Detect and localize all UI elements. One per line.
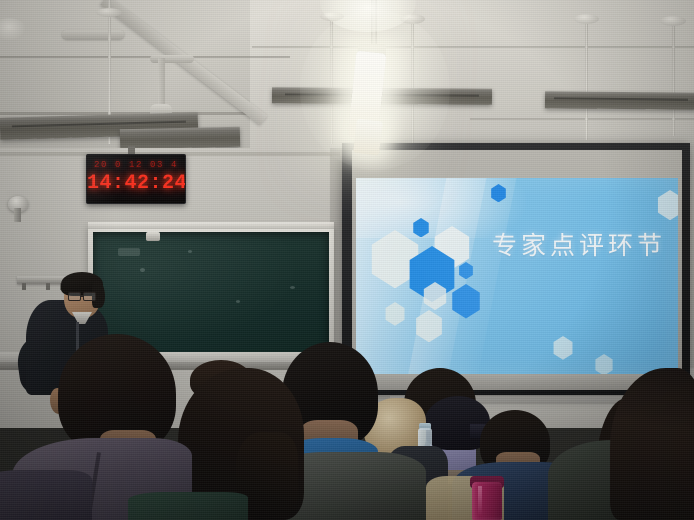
chalk-smudge [290, 286, 295, 289]
fluorescent-lamp-tube-lower [353, 119, 383, 156]
chalk-smudge [236, 300, 240, 303]
ceiling-seam [470, 118, 694, 120]
hex-white-bottom-r-icon [594, 354, 614, 376]
projected-slide: 专家点评环节 [356, 178, 678, 376]
batten-groove [12, 121, 186, 128]
audience-shoulder [0, 470, 92, 520]
lamp-ceiling-mount [96, 8, 122, 17]
glasses-bridge [80, 295, 84, 297]
lamp-drop-rod [585, 22, 588, 140]
chalk-smudge [188, 250, 192, 253]
lamp-drop-rod [330, 14, 333, 144]
ceiling-seam [0, 56, 290, 58]
clock-glass-sheen [87, 155, 185, 203]
thermos-highlight [478, 486, 482, 516]
chalk-smudge [140, 268, 145, 272]
fluorescent-batten [120, 127, 240, 150]
lamp-drop-rod [411, 18, 414, 144]
ceiling-seam [252, 46, 694, 48]
batten-groove [554, 98, 688, 101]
hex-white-edge-right-icon [656, 190, 678, 220]
fluorescent-batten [545, 91, 694, 110]
classroom-photo: 20 0 12 03 4 14:42:24 专家点评环节 [0, 0, 694, 520]
ceiling-slope-panel [250, 0, 694, 150]
bracket-peg [46, 283, 50, 290]
blackboard-top-rail [88, 222, 334, 229]
glasses-icon [83, 292, 96, 301]
hex-white-bottom-mid-icon [552, 336, 574, 360]
audience-green-garment [128, 492, 248, 520]
pink-thermos [472, 482, 502, 520]
camera-arm [14, 208, 21, 222]
led-wall-clock: 20 0 12 03 4 14:42:24 [86, 154, 186, 204]
chalk-smudge [118, 248, 140, 256]
lamp-ceiling-mount [574, 14, 599, 24]
lamp-drop-rod [672, 24, 675, 136]
lamp-ceiling-mount [660, 16, 686, 26]
ceiling-pipe [150, 55, 194, 63]
slide-title-text: 专家点评环节 [492, 226, 666, 262]
bracket-peg [22, 283, 26, 290]
blackboard-clip [146, 232, 160, 241]
ceiling-pipe [62, 30, 124, 39]
